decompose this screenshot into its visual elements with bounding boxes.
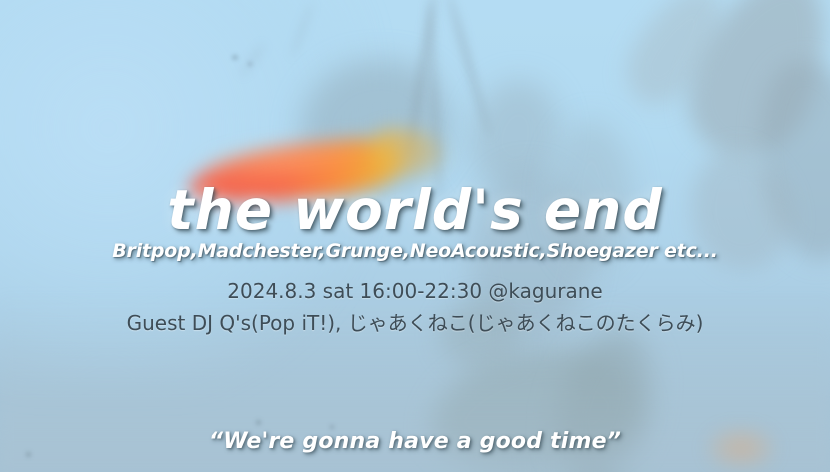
event-tagline: “We're gonna have a good time” [0,429,830,454]
text-layer: the world's end Britpop,Madchester,Grung… [0,0,830,472]
event-genres: Britpop,Madchester,Grunge,NeoAcoustic,Sh… [0,241,830,262]
event-date-venue: 2024.8.3 sat 16:00-22:30 @kagurane [0,279,830,303]
event-title: the world's end [0,183,830,238]
event-flyer: the world's end Britpop,Madchester,Grung… [0,0,830,472]
event-dj-lineup: Guest DJ Q's(Pop iT!), じゃあくねこ(じゃあくねこのたくら… [0,307,830,336]
